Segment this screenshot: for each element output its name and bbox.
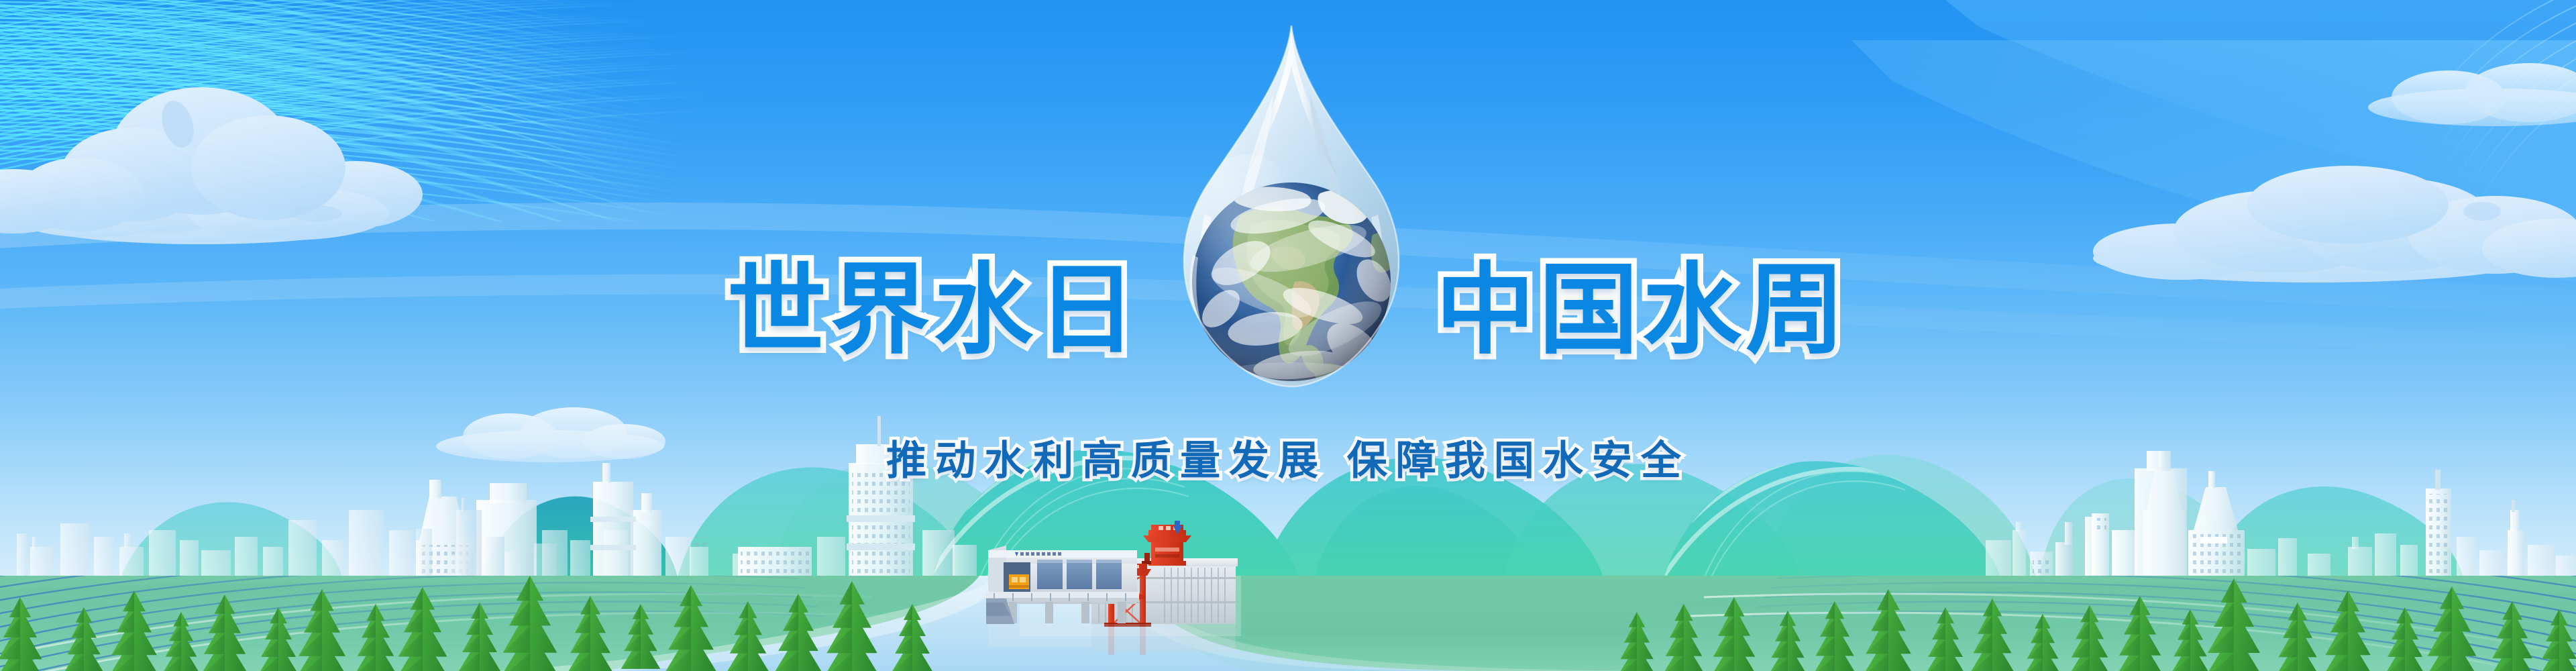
pine-group-left (0, 576, 933, 671)
pine-group-right (1617, 578, 2576, 671)
water-day-banner: 世界水日 中国水周 推动水利高质量发展 保障我国水安全 (0, 0, 2576, 671)
water-droplet-with-earth (1140, 13, 1442, 416)
